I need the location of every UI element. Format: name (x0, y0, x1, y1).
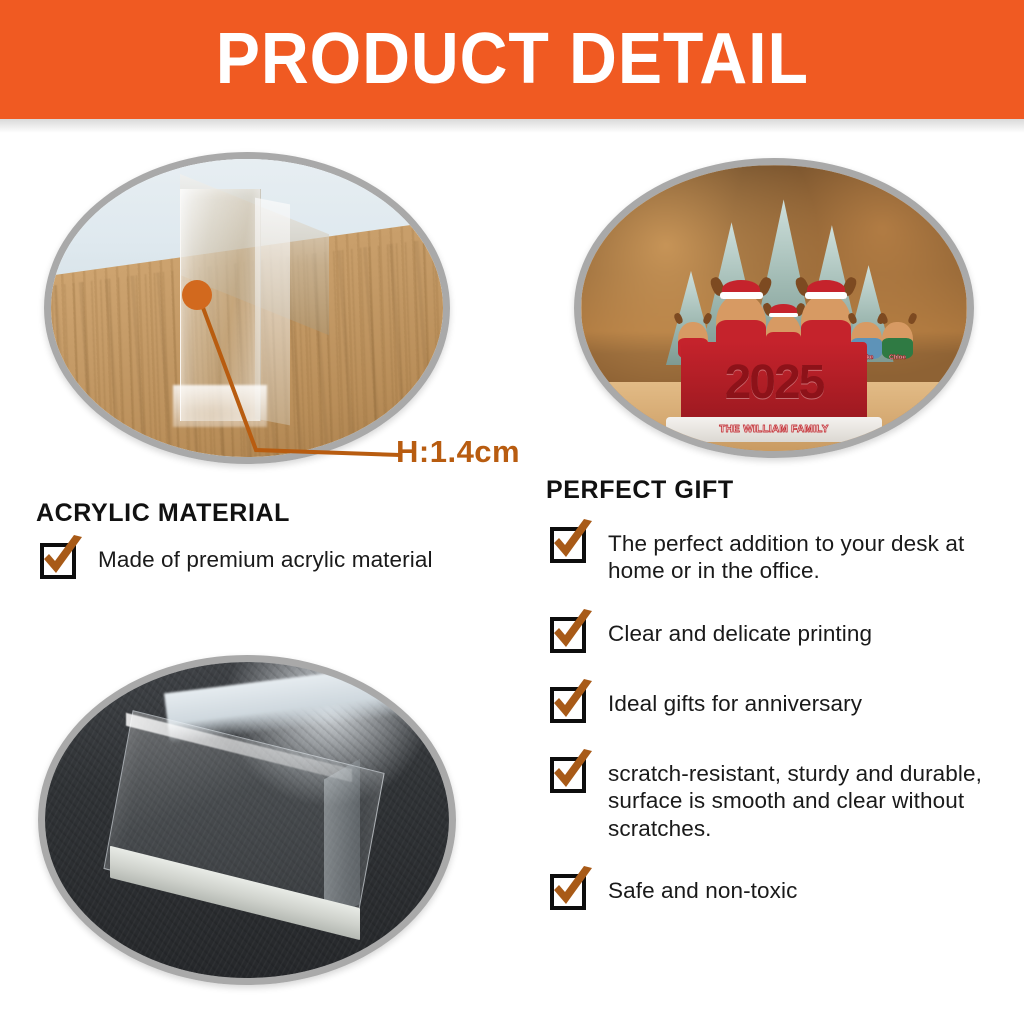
checkmark-icon (546, 519, 598, 565)
feature-item: scratch-resistant, sturdy and durable, s… (546, 749, 1016, 842)
checkmark-icon (36, 535, 88, 581)
checkmark-icon (546, 679, 598, 725)
santa-hat-icon (722, 280, 760, 299)
feature-text: Safe and non-toxic (608, 866, 797, 904)
acrylic-block-photo-content (45, 662, 449, 978)
feature-list-perfect-gift: The perfect addition to your desk at hom… (546, 519, 1016, 936)
ornament-photo: ★ ★ David Dad Emma (574, 158, 974, 458)
section-title-acrylic-material: ACRYLIC MATERIAL (36, 499, 290, 528)
checkbox-checked-icon (546, 866, 598, 912)
feature-item: Made of premium acrylic material (36, 535, 516, 581)
page-title: PRODUCT DETAIL (215, 23, 808, 95)
feature-text: scratch-resistant, sturdy and durable, s… (608, 749, 1016, 842)
height-callout-label: H:1.4cm (396, 434, 520, 470)
feature-list-acrylic-material: Made of premium acrylic material (36, 535, 516, 603)
feature-item: Ideal gifts for anniversary (546, 679, 1016, 725)
checkbox-checked-icon (546, 679, 598, 725)
feature-text: The perfect addition to your desk at hom… (608, 519, 1016, 585)
santa-hat-icon (807, 280, 845, 299)
acrylic-block-photo (38, 655, 456, 985)
feature-item: The perfect addition to your desk at hom… (546, 519, 1016, 585)
santa-hat-icon (770, 304, 796, 317)
acrylic-base-highlight (173, 385, 267, 427)
checkmark-icon (546, 866, 598, 912)
checkmark-icon (546, 609, 598, 655)
reindeer-name-tag: Chloe (889, 355, 906, 361)
family-name-plate: THE WILLIAM FAMILY (666, 417, 882, 443)
acrylic-edge-photo-content (51, 159, 443, 457)
checkbox-checked-icon (546, 609, 598, 655)
year-plaque: 2025 (681, 342, 866, 422)
header-banner: PRODUCT DETAIL (0, 0, 1024, 119)
checkbox-checked-icon (546, 749, 598, 795)
feature-text: Clear and delicate printing (608, 609, 872, 647)
checkmark-icon (546, 749, 598, 795)
feature-item: Clear and delicate printing (546, 609, 1016, 655)
header-shadow (0, 119, 1024, 133)
feature-text: Made of premium acrylic material (98, 535, 433, 573)
wood-scene (51, 159, 443, 457)
checkbox-checked-icon (36, 535, 88, 581)
checkbox-checked-icon (546, 519, 598, 565)
ornament-photo-content: ★ ★ David Dad Emma (581, 165, 967, 451)
section-title-perfect-gift: PERFECT GIFT (546, 476, 734, 505)
reindeer-figure: Chloe (882, 322, 913, 359)
acrylic-edge-photo (44, 152, 450, 464)
feature-text: Ideal gifts for anniversary (608, 679, 862, 717)
family-name-label: THE WILLIAM FAMILY (719, 424, 828, 435)
feature-item: Safe and non-toxic (546, 866, 1016, 912)
